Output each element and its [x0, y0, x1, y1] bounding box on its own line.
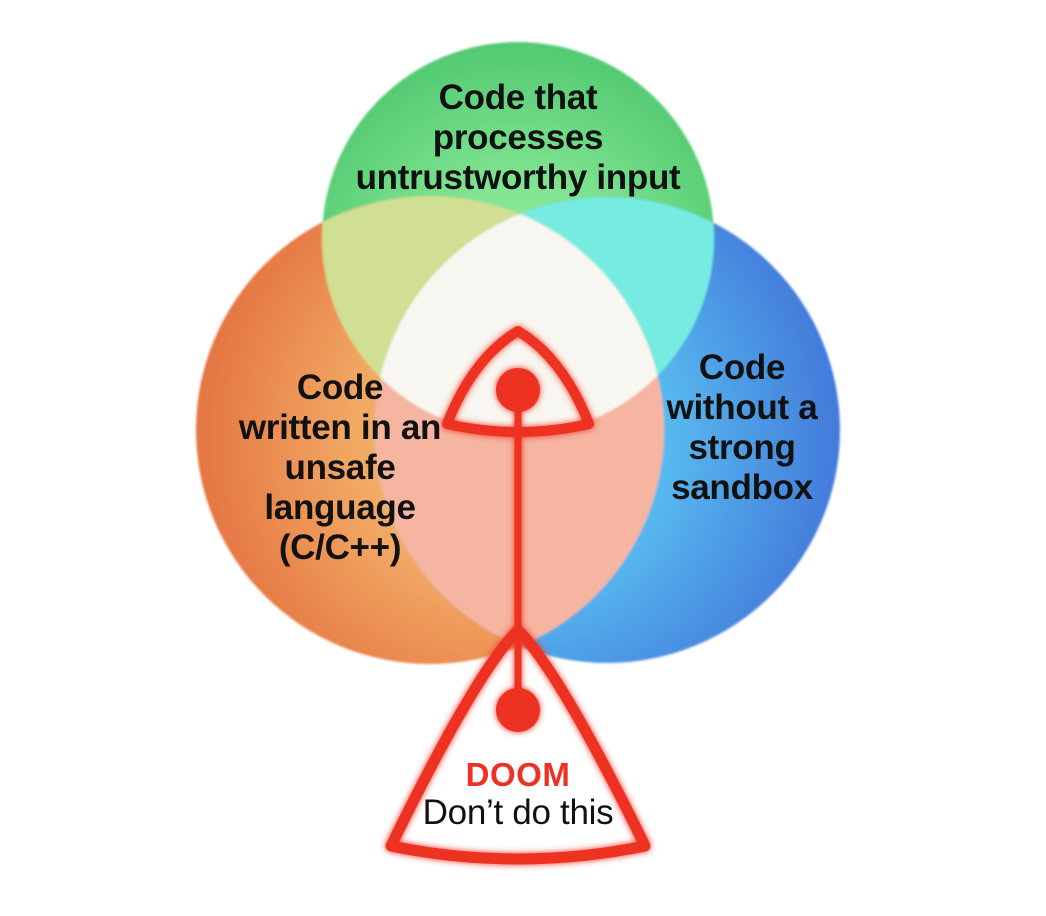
doom-callout-text: DOOM Don’t do this [368, 758, 668, 832]
venn-diagram: Code that processes untrustworthy input … [0, 0, 1046, 916]
doom-subtitle: Don’t do this [368, 793, 668, 832]
callout-marker-dot [496, 688, 540, 732]
doom-title: DOOM [368, 758, 668, 793]
center-marker-dot [496, 368, 540, 412]
